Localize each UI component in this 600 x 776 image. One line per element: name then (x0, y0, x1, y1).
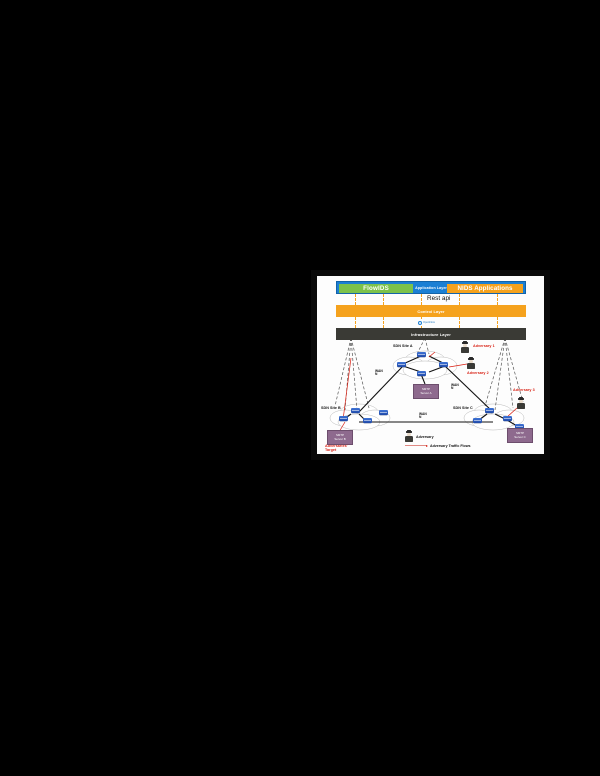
switch-node[interactable] (503, 416, 512, 421)
wan-3-line2: N (419, 416, 427, 419)
server-c[interactable]: SMTP Server C (507, 428, 533, 443)
server-b[interactable]: SMTP Server B (327, 430, 353, 445)
application-layer-label: Application Layer (415, 286, 447, 290)
switch-node[interactable] (439, 362, 448, 367)
wan-label-2: WAN N (451, 384, 459, 391)
adversary-2-icon (467, 358, 475, 369)
wan-2-line2: N (451, 387, 459, 390)
app-flowids-label: FlowIDS (363, 285, 389, 292)
adversaries-target-label: Adversaries' Target (325, 444, 348, 452)
infrastructure-layer-label: Infrastructure Layer (411, 332, 451, 337)
legend-traffic-label: Adversary Traffic Flows (430, 444, 471, 448)
switch-node[interactable] (473, 418, 482, 423)
rest-api-label: Rest api (427, 295, 450, 302)
site-a-label: SDN Site A (393, 344, 413, 348)
switch-node[interactable] (363, 418, 372, 423)
northbound-connector (459, 294, 460, 305)
openflow-icon: OpenFlow (417, 319, 451, 326)
figure-canvas: FlowIDS Application Layer NIDS Applicati… (317, 276, 544, 454)
app-nids-applications[interactable]: NIDS Applications (447, 284, 523, 293)
switch-node[interactable] (417, 371, 426, 376)
switch-node[interactable] (339, 416, 348, 421)
legend-item-adversary: Adversary (405, 432, 487, 441)
site-b-label: SDN Site B (321, 406, 341, 410)
network-topology: SMTP Server A SMTP Server B SMTP Server … (317, 340, 544, 454)
adversary-1-icon (461, 342, 469, 353)
site-c-label: SDN Site C (453, 406, 473, 410)
figure-legend: Adversary Adversary Traffic Flows (405, 432, 487, 450)
app-nids-label: NIDS Applications (457, 285, 512, 292)
adversary-3-label: Adversary 3 (513, 388, 535, 392)
northbound-connector (355, 294, 356, 305)
switch-node[interactable] (485, 408, 494, 413)
control-layer-bar: Control Layer (336, 305, 526, 317)
southbound-connector (459, 317, 460, 328)
northbound-connector (383, 294, 384, 305)
adversary-3-icon (517, 398, 525, 409)
server-a-line2: Server A (420, 392, 431, 395)
switch-node[interactable] (351, 408, 360, 413)
switch-node[interactable] (379, 410, 388, 415)
northbound-connector (497, 294, 498, 305)
application-layer-bar: FlowIDS Application Layer NIDS Applicati… (336, 281, 526, 294)
legend-item-traffic: Adversary Traffic Flows (405, 441, 487, 450)
figure-container: FlowIDS Application Layer NIDS Applicati… (311, 270, 550, 460)
wan-label-1: WAN N (375, 370, 383, 377)
adversary-flow-icon (405, 445, 427, 446)
server-a[interactable]: SMTP Server A (413, 384, 439, 399)
infrastructure-layer-bar: Infrastructure Layer (336, 328, 526, 340)
target-line2: Target (325, 448, 348, 452)
control-layer-label: Control Layer (417, 309, 444, 314)
switch-node[interactable] (397, 362, 406, 367)
openflow-label: OpenFlow (423, 321, 435, 324)
adversary-1-label: Adversary 1 (473, 344, 495, 348)
server-c-line2: Server C (514, 436, 525, 439)
wan-1-line2: N (375, 373, 383, 376)
legend-adversary-icon (405, 431, 413, 442)
adversary-2-label: Adversary 2 (467, 371, 489, 375)
legend-adversary-label: Adversary (416, 435, 434, 439)
southbound-connector (383, 317, 384, 328)
southbound-connector (497, 317, 498, 328)
openflow-glyph (418, 321, 422, 325)
southbound-connector (355, 317, 356, 328)
scanned-page: FlowIDS Application Layer NIDS Applicati… (0, 0, 600, 776)
app-flowids[interactable]: FlowIDS (339, 284, 413, 293)
wan-label-3: WAN N (419, 413, 427, 420)
server-b-line2: Server B (334, 438, 345, 441)
switch-node[interactable] (417, 352, 426, 357)
northbound-connector (421, 294, 422, 305)
